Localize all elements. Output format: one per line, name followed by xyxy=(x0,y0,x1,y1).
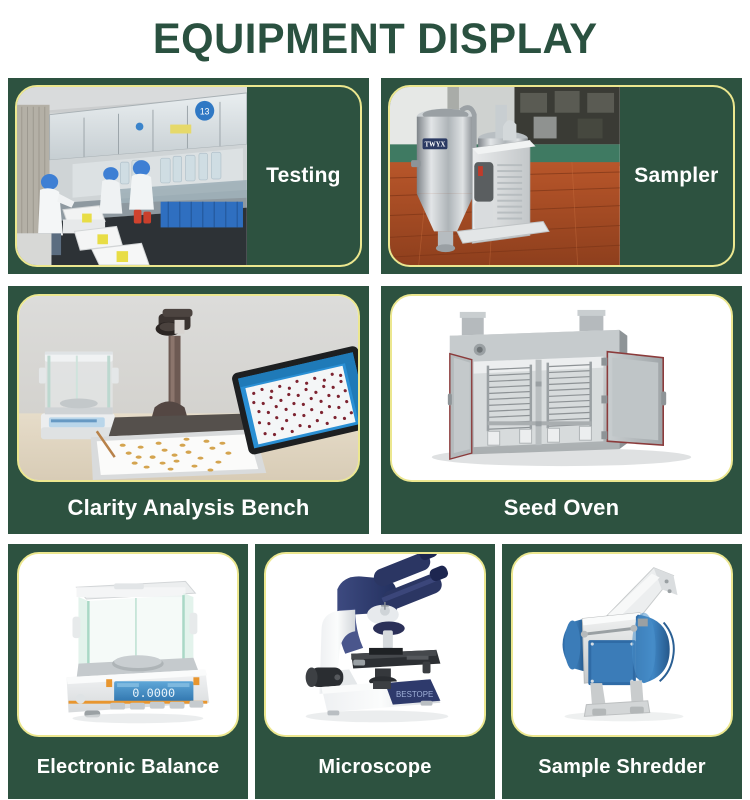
card-frame: TWYX xyxy=(388,85,735,267)
svg-text:13: 13 xyxy=(200,107,210,117)
equipment-row-3: 0.0000 xyxy=(0,544,750,799)
card-label-area: Testing xyxy=(247,87,360,265)
equipment-card-microscope[interactable]: BESTOPE Microscope xyxy=(255,544,495,799)
card-label-area: Electronic Balance xyxy=(8,744,248,790)
seed-drying-oven-photo xyxy=(392,296,731,480)
equipment-row-2: Clarity Analysis Bench xyxy=(0,286,750,534)
card-frame: 13 xyxy=(15,85,362,267)
laboratory-testing-bench-photo: 13 xyxy=(17,87,247,265)
equipment-card-electronic-balance[interactable]: 0.0000 xyxy=(8,544,248,799)
equipment-label: Sample Shredder xyxy=(538,756,706,779)
equipment-card-seed-oven[interactable]: Seed Oven xyxy=(381,286,742,534)
clarity-analysis-bench-photo xyxy=(19,296,358,480)
electronic-analytical-balance-photo: 0.0000 xyxy=(19,554,237,735)
card-label-area: Sampler xyxy=(620,87,733,265)
equipment-label: Clarity Analysis Bench xyxy=(67,495,309,521)
card-label-area: Microscope xyxy=(255,744,495,790)
equipment-row-1: 13 xyxy=(0,78,750,274)
equipment-label: Seed Oven xyxy=(504,495,620,521)
page-title: EQUIPMENT DISPLAY xyxy=(153,15,598,64)
card-label-area: Sample Shredder xyxy=(502,744,742,790)
equipment-card-sample-shredder[interactable]: Sample Shredder xyxy=(502,544,742,799)
equipment-label: Testing xyxy=(266,164,341,188)
svg-text:0.0000: 0.0000 xyxy=(132,686,175,700)
equipment-label: Sampler xyxy=(634,164,718,188)
card-frame xyxy=(390,294,733,482)
card-frame: 0.0000 xyxy=(17,552,239,737)
card-label-area: Clarity Analysis Bench xyxy=(8,486,369,530)
card-label-area: Seed Oven xyxy=(381,486,742,530)
svg-text:BESTOPE: BESTOPE xyxy=(396,690,433,699)
stainless-steel-sampler-photo: TWYX xyxy=(390,87,620,265)
page-header: EQUIPMENT DISPLAY xyxy=(0,0,750,78)
equipment-label: Electronic Balance xyxy=(37,756,220,779)
card-frame: BESTOPE xyxy=(264,552,486,737)
equipment-card-testing[interactable]: 13 xyxy=(8,78,369,274)
card-frame xyxy=(511,552,733,737)
binocular-microscope-photo: BESTOPE xyxy=(266,554,484,735)
equipment-display-page: EQUIPMENT DISPLAY xyxy=(0,0,750,800)
equipment-card-clarity-analysis-bench[interactable]: Clarity Analysis Bench xyxy=(8,286,369,534)
equipment-card-sampler[interactable]: TWYX xyxy=(381,78,742,274)
sample-shredder-crusher-photo xyxy=(513,554,731,735)
svg-text:TWYX: TWYX xyxy=(425,141,446,148)
card-frame xyxy=(17,294,360,482)
equipment-label: Microscope xyxy=(318,756,431,779)
